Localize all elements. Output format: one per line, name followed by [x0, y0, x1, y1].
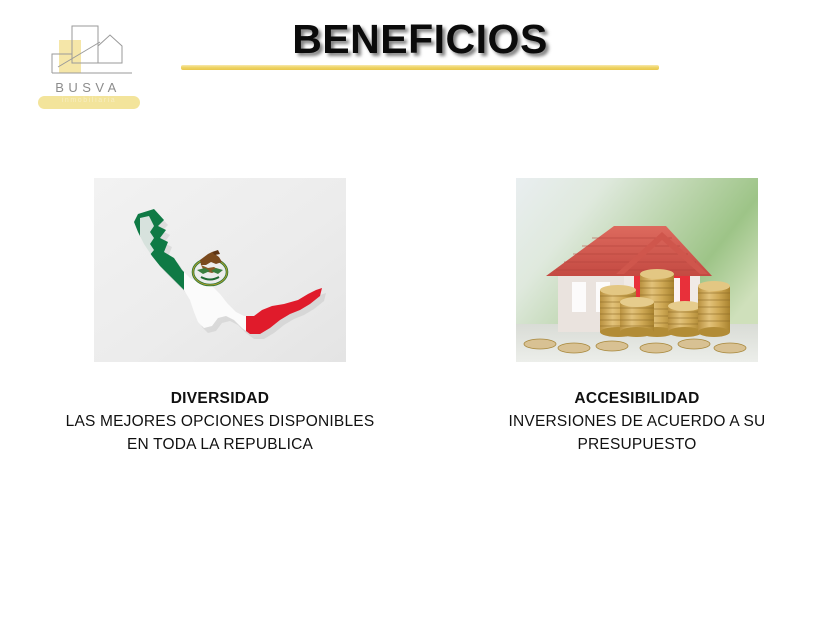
benefit-column-diversidad: DIVERSIDAD LAS MEJORES OPCIONES DISPONIB… — [12, 178, 428, 456]
mexico-flag-map-photo — [94, 178, 346, 362]
benefit-heading: ACCESIBILIDAD — [446, 387, 828, 410]
benefit-column-accesibilidad: ACCESIBILIDAD INVERSIONES DE ACUERDO A S… — [446, 178, 828, 456]
page-title: BENEFICIOS — [180, 16, 660, 63]
house-and-coins-photo — [516, 178, 758, 362]
benefit-body-line-1: LAS MEJORES OPCIONES DISPONIBLES — [12, 410, 428, 433]
benefit-heading: DIVERSIDAD — [12, 387, 428, 410]
benefit-caption-diversidad: DIVERSIDAD LAS MEJORES OPCIONES DISPONIB… — [12, 387, 428, 456]
logo-wordmark: BUSVA — [28, 80, 148, 95]
benefit-caption-accesibilidad: ACCESIBILIDAD INVERSIONES DE ACUERDO A S… — [446, 387, 828, 456]
benefit-body-line-1: INVERSIONES DE ACUERDO A SU — [446, 410, 828, 433]
brand-logo: BUSVA inmobiliaria — [28, 22, 148, 122]
title-underline-accent — [181, 65, 659, 70]
logo-tagline-banner: inmobiliaria — [38, 96, 140, 109]
logo-tagline: inmobiliaria — [38, 97, 140, 104]
benefit-body-line-2: EN TODA LA REPUBLICA — [12, 433, 428, 456]
slide-canvas: BUSVA inmobiliaria BENEFICIOS — [0, 0, 840, 630]
buildings-outline-icon — [28, 22, 148, 82]
benefit-body-line-2: PRESUPUESTO — [446, 433, 828, 456]
